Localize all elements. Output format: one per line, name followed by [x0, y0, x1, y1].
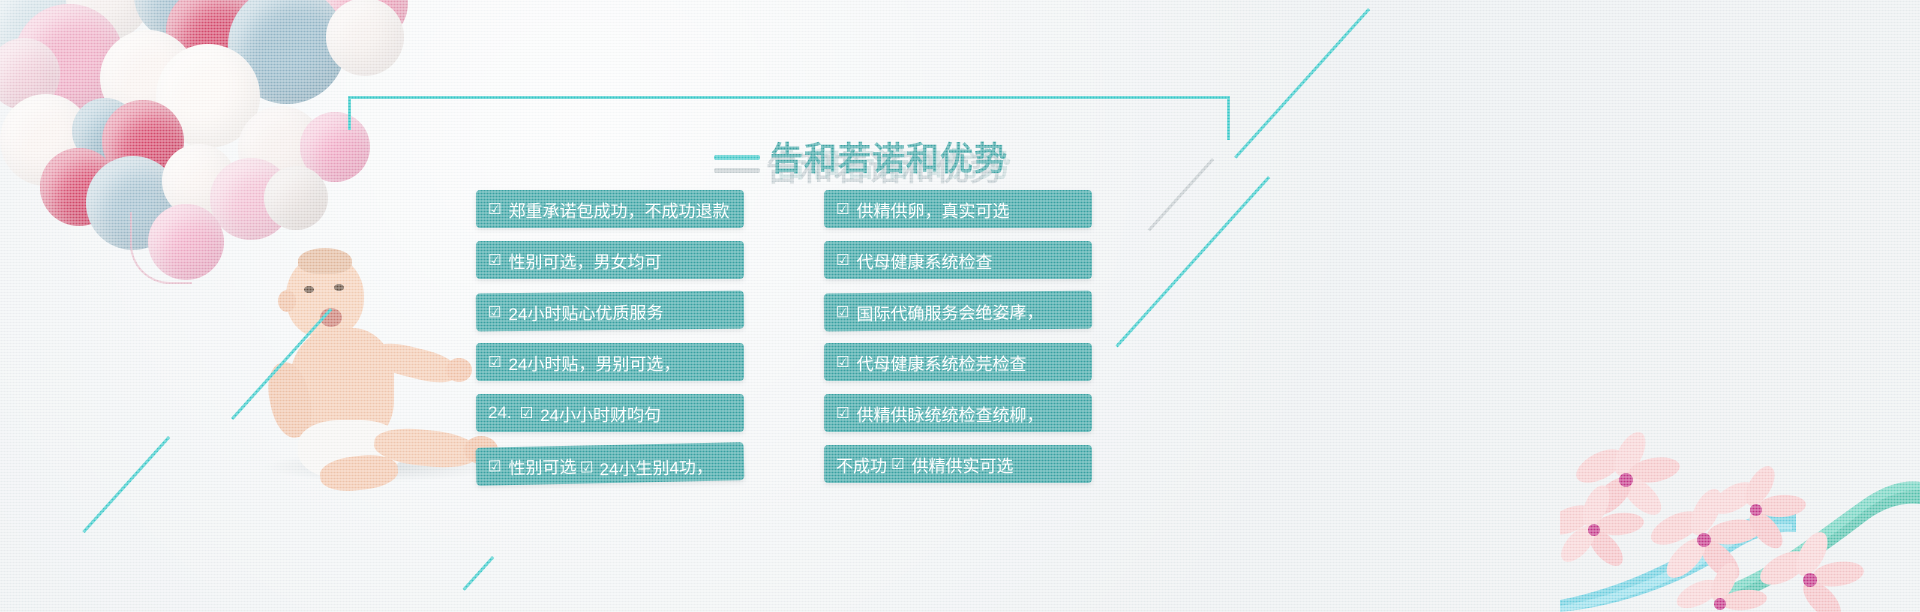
list-item-overlay: ☑ 24小生别4功， [580, 453, 713, 481]
list-item-label: 供精供实可选 [911, 452, 1013, 477]
list-item-label: 郑重承诺包成功，不成功退款 [508, 197, 729, 222]
list-item-label: 代母健康系统检芫检查 [856, 350, 1026, 375]
balloon-cluster [0, 0, 390, 290]
banner-canvas: 告和若诺和优势 告和若诺和优势 告和若诺和优势 ☑ 郑重承诺包成功，不成功退款 … [0, 0, 1920, 612]
list-item-label: 国际代确服务会绝姿庨， [856, 298, 1043, 325]
check-icon: ☑ [488, 202, 501, 217]
list-item[interactable]: ☑ 24小时贴心优质服务 [476, 291, 744, 332]
diagonal-line-far-right [1234, 8, 1370, 159]
balloon-string [130, 212, 192, 284]
check-icon-overlay: ☑ [580, 460, 594, 475]
list-item[interactable]: ☑ 性别可选，男女均可 [476, 241, 744, 279]
check-icon: ☑ [520, 406, 533, 421]
list-item-label: 24小小时财呁句 [540, 401, 661, 426]
frame-top-line [348, 96, 1230, 99]
list-item[interactable]: ☑ 代母健康系统检查 [824, 241, 1092, 279]
heading-rule-icon [714, 155, 760, 160]
check-icon: ☑ [488, 305, 502, 320]
diagonal-line-lower-left [82, 436, 170, 533]
list-item-label: 代母健康系统检查 [856, 248, 992, 273]
list-item[interactable]: ☑ 代母健康系统检芫检查 [824, 343, 1092, 381]
list-item-label: 24小时贴，男别可选， [508, 350, 680, 375]
list-item-prefix: 24. [488, 403, 512, 423]
list-item-label: 性别可选，男女均可 [508, 248, 661, 273]
baby-photo [268, 250, 498, 500]
diagonal-line-top-right [1115, 176, 1270, 347]
check-icon: ☑ [488, 459, 502, 474]
flower-ribbon-decoration [1560, 362, 1920, 612]
section-heading: 告和若诺和优势 告和若诺和优势 告和若诺和优势 [700, 128, 1220, 182]
check-icon: ☑ [836, 202, 849, 217]
list-item-prefix: 不成功 [836, 452, 887, 477]
flower-cluster [1560, 427, 1865, 612]
list-item[interactable]: ☑ 郑重承诺包成功，不成功退款 [476, 190, 744, 228]
list-item-label: 供精供卵，真实可选 [856, 197, 1009, 222]
list-item[interactable]: ☑ 24小时贴，男别可选， [476, 343, 744, 381]
right-benefit-list: ☑ 供精供卵，真实可选 ☑ 代母健康系统检查 ☑ 国际代确服务会绝姿庨， ☑ 代… [824, 190, 1102, 496]
list-item-label: 性别可选 [508, 452, 577, 478]
check-icon: ☑ [836, 253, 849, 268]
list-item-label: 供精供眿统统检查统柳， [856, 401, 1043, 426]
left-benefit-list: ☑ 郑重承诺包成功，不成功退款 ☑ 性别可选，男女均可 ☑ 24小时贴心优质服务… [476, 190, 754, 496]
check-icon: ☑ [836, 355, 849, 370]
check-icon: ☑ [488, 253, 501, 268]
diagonal-line-bottom-stub [463, 556, 495, 591]
page-title: 告和若诺和优势 [770, 132, 1008, 180]
list-item-overlay-label: 24小生别4功， [599, 453, 713, 480]
frame-left-stub [348, 96, 351, 130]
check-icon: ☑ [891, 457, 904, 472]
flora-svg [1560, 362, 1920, 612]
check-icon: ☑ [836, 406, 849, 421]
list-item[interactable]: ☑ 供精供卵，真实可选 [824, 190, 1092, 228]
check-icon: ☑ [488, 355, 501, 370]
frame-right-stub [1227, 96, 1230, 140]
list-item[interactable]: ☑ 性别可选 ☑ 24小生别4功， [476, 442, 745, 486]
check-icon: ☑ [836, 305, 850, 320]
list-item-label: 24小时贴心优质服务 [508, 298, 663, 325]
list-item[interactable]: 24. ☑ 24小小时财呁句 [476, 394, 744, 432]
list-item[interactable]: ☑ 供精供眿统统检查统柳， [824, 394, 1092, 432]
list-item[interactable]: ☑ 国际代确服务会绝姿庨， [824, 291, 1092, 332]
list-item[interactable]: 不成功 ☑ 供精供实可选 [824, 445, 1092, 483]
heading-rule-ghost [714, 168, 760, 173]
